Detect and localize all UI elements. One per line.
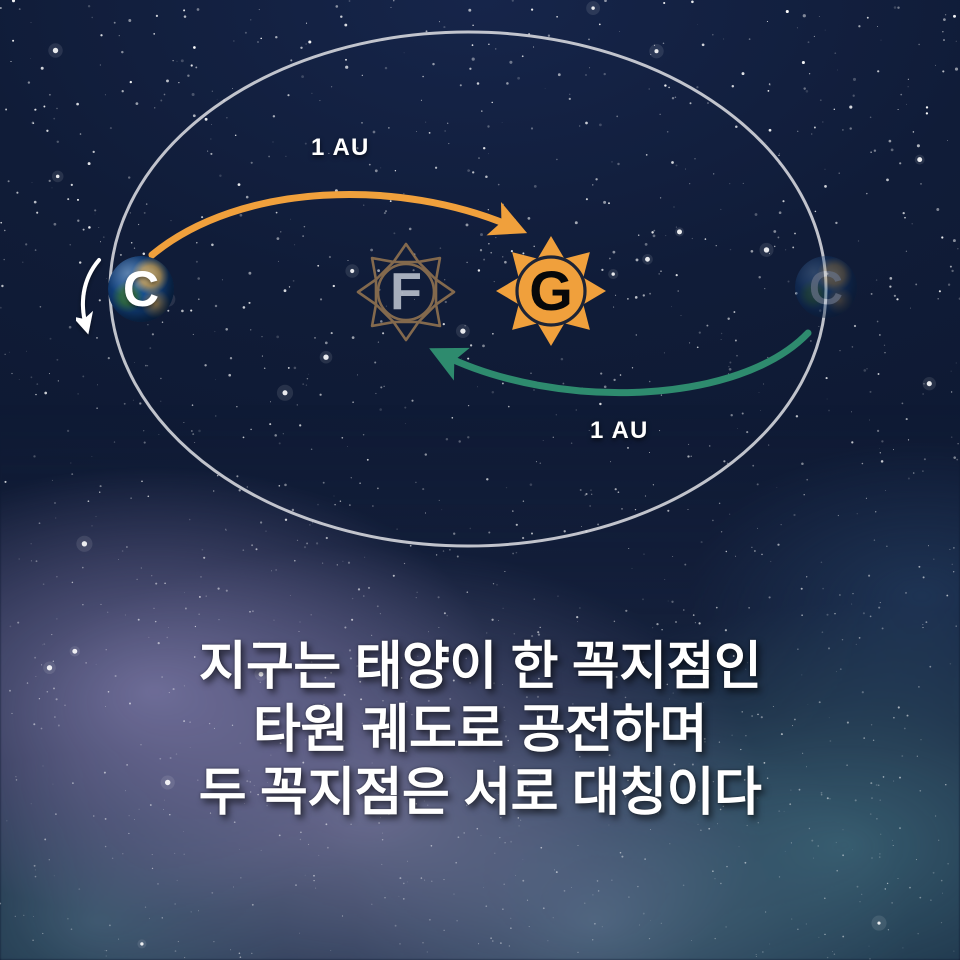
- focus-g-label: G: [524, 262, 578, 320]
- orbit-ellipse: [110, 32, 826, 546]
- caption-line-2: 타원 궤도로 공전하며: [0, 699, 960, 762]
- earth-right-label: C: [795, 256, 857, 318]
- curved-arrow-icon: [83, 260, 99, 326]
- orbit-infographic: C C F G 1 AU 1 AU 지구는 태양이 한 꼭지점인 타원 궤도로 …: [0, 0, 960, 960]
- au-label-top: 1 AU: [311, 134, 370, 162]
- caption-line-1: 지구는 태양이 한 꼭지점인: [0, 636, 960, 699]
- green-distance-arrow: [443, 333, 808, 393]
- caption-block: 지구는 태양이 한 꼭지점인 타원 궤도로 공전하며 두 꼭지점은 서로 대칭이…: [0, 636, 960, 825]
- earth-globe-icon-right: C: [795, 256, 857, 318]
- earth-globe-icon-left: C: [108, 256, 174, 322]
- focus-f-label: F: [379, 264, 433, 320]
- au-label-bottom: 1 AU: [590, 417, 649, 445]
- earth-left-label: C: [108, 256, 174, 322]
- caption-line-3: 두 꼭지점은 서로 대칭이다: [0, 762, 960, 825]
- orange-distance-arrow: [152, 194, 513, 255]
